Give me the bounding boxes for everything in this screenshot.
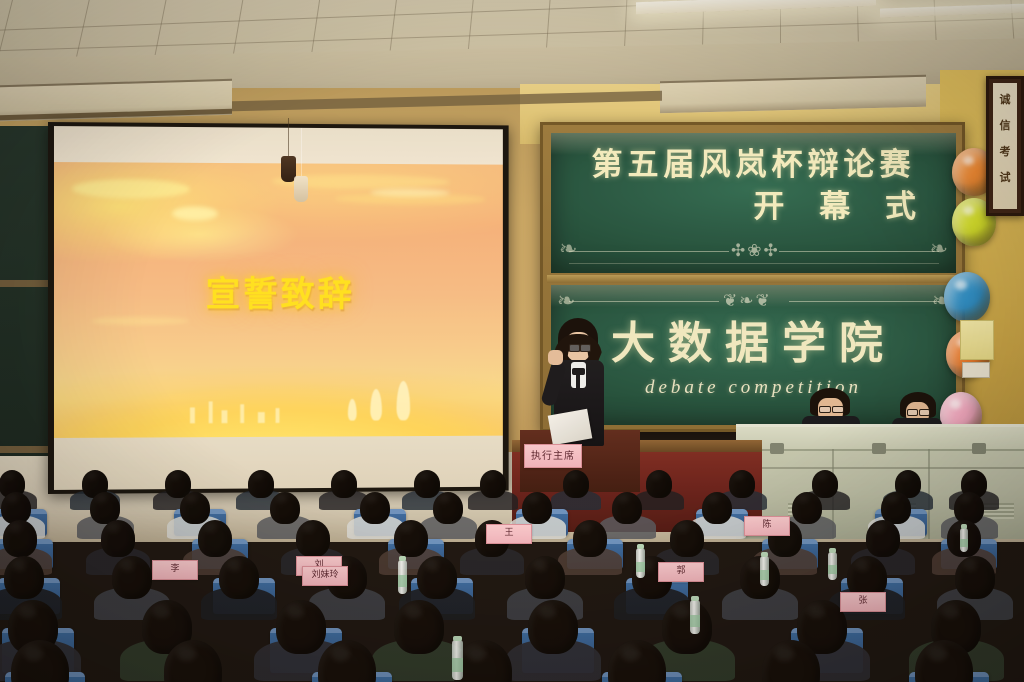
audience-member-head bbox=[276, 600, 326, 654]
screen-top-margin bbox=[54, 126, 503, 165]
cabinet-latch[interactable] bbox=[872, 443, 886, 454]
judge-glasses bbox=[832, 406, 844, 413]
audience-member-head bbox=[670, 520, 704, 557]
bottle-cap bbox=[453, 636, 462, 641]
wall-poster-char-4: 试 bbox=[993, 169, 1017, 185]
audience-member-head bbox=[954, 492, 984, 524]
audience-member-head bbox=[729, 470, 755, 498]
projector-screen-housing bbox=[660, 75, 926, 114]
audience-member-head bbox=[101, 520, 135, 557]
bottle-cap bbox=[761, 552, 768, 557]
audience-member-head bbox=[417, 556, 457, 599]
chalkboard-divider bbox=[547, 275, 964, 283]
audience-member-head bbox=[112, 556, 152, 599]
seat-name-card: 郭 bbox=[658, 562, 704, 582]
audience-member-head bbox=[180, 492, 210, 524]
bottle-label bbox=[636, 562, 645, 573]
bottle-label bbox=[760, 570, 769, 581]
audience-member-head bbox=[522, 492, 552, 524]
pendant-lamp-cord-shadow bbox=[301, 128, 302, 176]
speaker-glasses bbox=[569, 344, 580, 352]
bottle-cap bbox=[637, 544, 644, 549]
seat-name-card: 刘妹玲 bbox=[302, 566, 348, 586]
chalkboard-title-line2: 开 幕 式 bbox=[753, 181, 928, 226]
audience-member-head bbox=[414, 470, 440, 498]
seat-name-card: 张 bbox=[840, 592, 886, 612]
audience-member-head bbox=[646, 470, 672, 498]
bottle-label bbox=[690, 615, 700, 627]
audience-member-head bbox=[296, 520, 330, 557]
judge-glasses bbox=[819, 406, 831, 413]
audience-member-head bbox=[394, 520, 428, 557]
speaker-raised-fist bbox=[548, 350, 563, 365]
wall-poster-char-3: 考 bbox=[993, 143, 1017, 159]
chalk-corner-left: ❧ bbox=[559, 237, 577, 262]
audience-member-head bbox=[955, 556, 995, 599]
seat-name-card: 陈 bbox=[744, 516, 790, 536]
audience-member-head bbox=[219, 556, 259, 599]
audience-member-head bbox=[573, 520, 607, 557]
speaker-glasses bbox=[580, 344, 591, 352]
judge-glasses bbox=[907, 409, 918, 416]
wall-poster-frame: 诚 信 考 试 bbox=[986, 76, 1024, 216]
audience-member-head bbox=[394, 600, 444, 654]
audience-member-head bbox=[360, 492, 390, 524]
projection-screen: 宣誓致辞 bbox=[48, 122, 509, 494]
audience-member-head bbox=[198, 520, 232, 557]
bottle-cap bbox=[399, 556, 406, 561]
audience-member-head bbox=[4, 556, 44, 599]
presentation-slide: 宣誓致辞 bbox=[54, 162, 503, 438]
audience-member-head bbox=[248, 470, 274, 498]
cabinet-latch[interactable] bbox=[770, 443, 784, 454]
audience-member-head bbox=[792, 492, 822, 524]
podium-name-card: 执行主席 bbox=[524, 444, 582, 468]
slide-title: 宣誓致辞 bbox=[54, 266, 503, 317]
speaker-person bbox=[528, 318, 624, 458]
pendant-lamp-reflection bbox=[294, 176, 308, 202]
bottle-label bbox=[960, 539, 968, 547]
bottle-label bbox=[828, 565, 837, 575]
audience-member-head bbox=[270, 492, 300, 524]
bottle-label bbox=[452, 658, 463, 672]
balloon-3 bbox=[944, 272, 990, 322]
audience-member-head bbox=[525, 556, 565, 599]
chalk-corner-right: ❧ bbox=[930, 237, 948, 262]
bottle-cap bbox=[829, 548, 836, 553]
seat-name-card: 李 bbox=[152, 560, 198, 580]
audience-member-head bbox=[528, 600, 578, 654]
judge-glasses bbox=[919, 409, 930, 416]
bottle-label bbox=[398, 575, 407, 587]
projection-screen-surface: 宣誓致辞 bbox=[54, 126, 503, 490]
wall-switch-plate[interactable] bbox=[962, 362, 990, 378]
wall-sticky-note bbox=[960, 320, 994, 360]
chalkboard-title-line1: 第五届风岚杯辩论赛 bbox=[551, 139, 956, 184]
audience-member-head bbox=[612, 492, 642, 524]
audience-member-head bbox=[812, 470, 838, 498]
speaker-bow-tail bbox=[576, 374, 580, 388]
audience-member-head bbox=[480, 470, 506, 498]
pendant-lamp-cord bbox=[288, 118, 289, 158]
chalk-flourish-top: ✣❀✣ bbox=[731, 241, 780, 261]
bottle-cap bbox=[691, 596, 699, 601]
audience-member-head bbox=[3, 520, 37, 557]
audience-member-head bbox=[866, 520, 900, 557]
lecture-hall-scene: 宣誓致辞 第五届风岚杯辩论赛 开 幕 式 ✣❀✣ ❧ ❧ ❦❧❦ ❧ bbox=[0, 0, 1024, 682]
audience-member-head bbox=[702, 492, 732, 524]
wall-poster-char-1: 诚 bbox=[993, 91, 1017, 107]
wall-poster-surface: 诚 信 考 试 bbox=[993, 83, 1017, 209]
audience-member-head bbox=[433, 492, 463, 524]
wall-poster-char-2: 信 bbox=[993, 117, 1017, 133]
audience-member-head bbox=[662, 600, 712, 654]
cabinet-latch[interactable] bbox=[972, 443, 986, 454]
audience-member-head bbox=[563, 470, 589, 498]
bottle-cap bbox=[961, 524, 967, 529]
chalkboard-upper-panel: 第五届风岚杯辩论赛 开 幕 式 ✣❀✣ ❧ ❧ bbox=[551, 133, 956, 273]
seat-name-card: 王 bbox=[486, 524, 532, 544]
audience-member-head bbox=[331, 470, 357, 498]
